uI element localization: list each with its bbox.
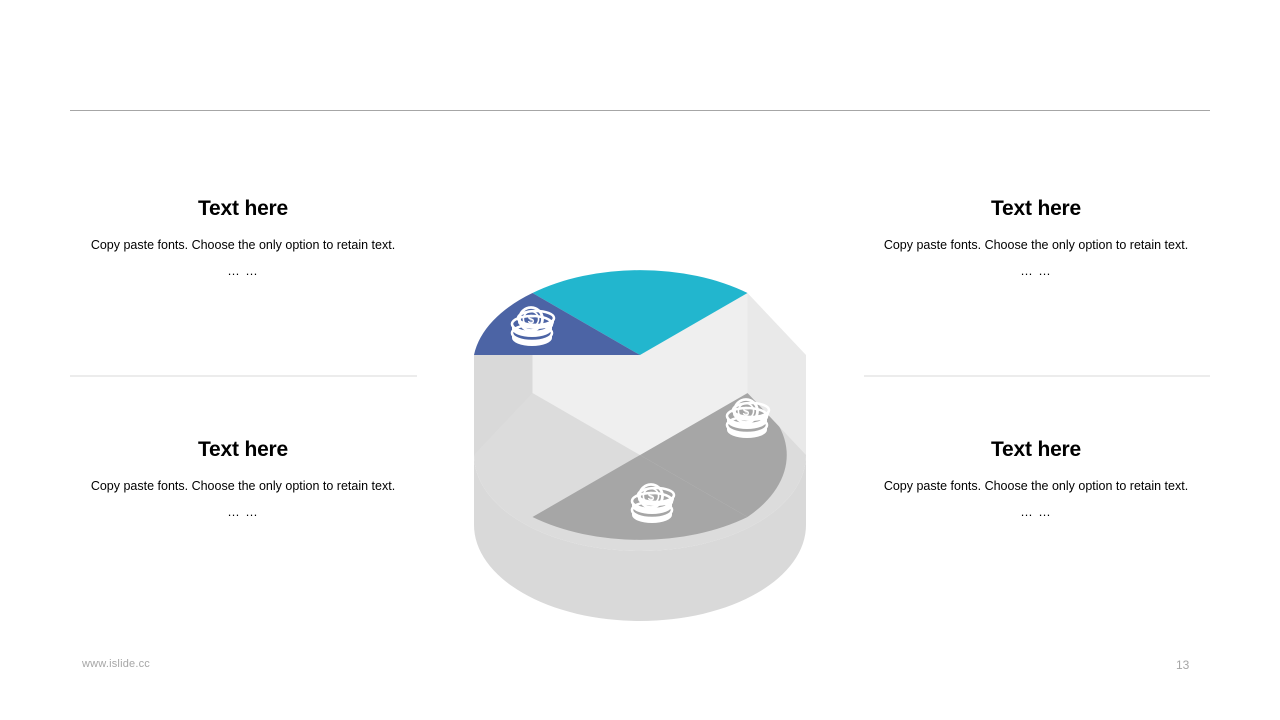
- text-block-dots: … …: [881, 261, 1191, 281]
- text-block-title: Text here: [88, 437, 398, 462]
- text-block-body: Copy paste fonts. Choose the only option…: [881, 476, 1191, 496]
- isometric-pie-diagram: $: [440, 160, 840, 650]
- text-block-title: Text here: [881, 437, 1191, 462]
- text-block-title: Text here: [88, 196, 398, 221]
- right-section-divider: [864, 375, 1210, 377]
- text-block-dots: … …: [881, 502, 1191, 522]
- coins-icon: [620, 192, 662, 231]
- footer-url[interactable]: www.islide.cc: [82, 658, 150, 670]
- footer-page-number: 13: [1176, 658, 1216, 672]
- text-block-title: Text here: [881, 196, 1191, 221]
- text-block-top-right: Text here Copy paste fonts. Choose the o…: [881, 196, 1191, 282]
- text-block-body: Copy paste fonts. Choose the only option…: [88, 476, 398, 496]
- text-block-dots: … …: [88, 502, 398, 522]
- text-block-top-left: Text here Copy paste fonts. Choose the o…: [88, 196, 398, 282]
- text-block-bottom-right: Text here Copy paste fonts. Choose the o…: [881, 437, 1191, 523]
- text-block-body: Copy paste fonts. Choose the only option…: [88, 235, 398, 255]
- left-section-divider: [70, 375, 417, 377]
- header-divider: [70, 110, 1210, 111]
- text-block-bottom-left: Text here Copy paste fonts. Choose the o…: [88, 437, 398, 523]
- slide-canvas: Text here Copy paste fonts. Choose the o…: [0, 0, 1280, 720]
- text-block-dots: … …: [88, 261, 398, 281]
- text-block-body: Copy paste fonts. Choose the only option…: [881, 235, 1191, 255]
